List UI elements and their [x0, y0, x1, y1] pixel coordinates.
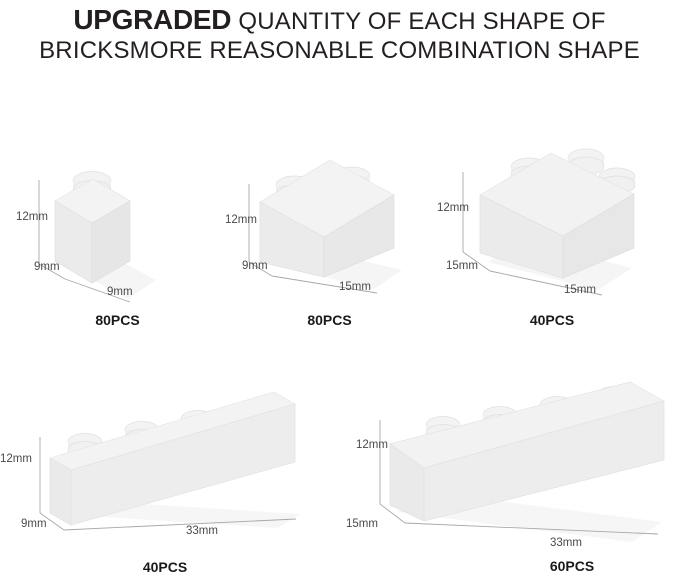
brick-card-2x4: 12mm 15mm 33mm 60PCS — [342, 382, 679, 583]
brick-2x2-illustration — [432, 140, 672, 340]
page-title: UPGRADED QUANTITY OF EACH SHAPE OF BRICK… — [0, 0, 679, 65]
dimension-height-1x1: 12mm — [16, 211, 48, 223]
brick-card-1x2: 12mm 9mm 15mm 80PCS — [222, 150, 437, 340]
brick-2x4-illustration — [342, 382, 679, 583]
brick-card-2x2: 12mm 15mm 15mm 40PCS — [432, 140, 672, 340]
dimension-height-1x4: 12mm — [0, 453, 32, 465]
quantity-1x1: 80PCS — [10, 312, 225, 328]
dimension-width-1x2: 15mm — [339, 281, 371, 293]
dimension-width-2x2: 15mm — [564, 284, 596, 296]
dimension-height-2x2: 12mm — [437, 202, 469, 214]
quantity-2x2: 40PCS — [432, 312, 672, 328]
quantity-2x4: 60PCS — [342, 558, 679, 574]
brick-card-1x4: 12mm 9mm 33mm 40PCS — [0, 392, 330, 583]
brick-1x4-illustration — [0, 392, 330, 583]
title-emphasis: UPGRADED — [73, 4, 231, 35]
title-line-2: BRICKSMORE REASONABLE COMBINATION SHAPE — [0, 37, 679, 65]
title-line-1-rest: QUANTITY OF EACH SHAPE OF — [238, 8, 605, 35]
dimension-width-1x1: 9mm — [107, 286, 133, 298]
quantity-1x4: 40PCS — [0, 559, 330, 575]
dimension-height-2x4: 12mm — [356, 439, 388, 451]
title-line-1: UPGRADED QUANTITY OF EACH SHAPE OF — [0, 0, 679, 37]
dimension-depth-2x2: 15mm — [446, 260, 478, 272]
dimension-width-2x4: 33mm — [550, 537, 582, 549]
quantity-1x2: 80PCS — [222, 312, 437, 328]
dimension-height-1x2: 12mm — [225, 214, 257, 226]
dimension-width-1x4: 33mm — [186, 525, 218, 537]
dimension-depth-1x1: 9mm — [34, 261, 60, 273]
brick-card-1x1: 12mm 9mm 9mm 80PCS — [10, 150, 225, 340]
dimension-depth-2x4: 15mm — [346, 518, 378, 530]
dimension-depth-1x4: 9mm — [21, 518, 47, 530]
dimension-depth-1x2: 9mm — [242, 260, 268, 272]
